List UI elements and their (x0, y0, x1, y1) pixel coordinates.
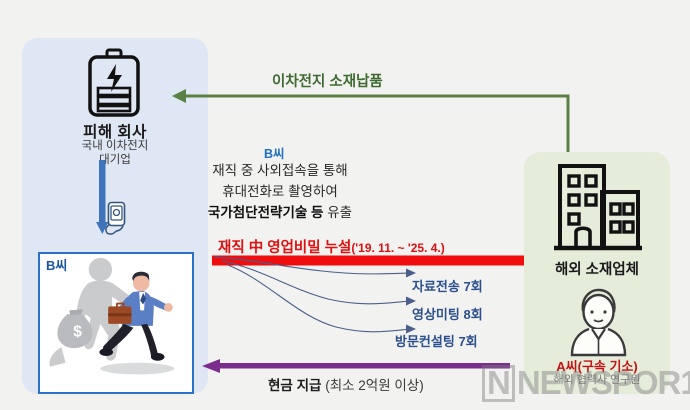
watermark-badge: N (482, 365, 515, 402)
purple-arrow-label: 현금 지급 (최소 2억원 이상) (268, 374, 424, 394)
green-left-arrow-icon (170, 84, 590, 164)
watermark-text: NEWSPOR1 (517, 364, 690, 402)
newsis-watermark: N NEWSPOR1 (482, 364, 690, 402)
branch-label-3-count: 7회 (458, 334, 477, 349)
branch-curves (212, 255, 542, 365)
branch-label-1-text: 자료전송 (412, 279, 460, 294)
center-line-2: 휴대전화로 촬영하여 (110, 181, 450, 202)
center-line-3-strong: 국가첨단전략기술 등 (208, 205, 324, 220)
center-line-3-rest: 유출 (327, 205, 352, 220)
branch-label-2-text: 영상미팅 (412, 307, 460, 322)
branch-label-2: 영상미팅 8회 (412, 304, 483, 323)
branch-label-3-text: 방문컨설팅 (395, 334, 455, 349)
green-arrow-label: 이차전지 소재납품 (272, 70, 383, 91)
purple-arrow-label-bold: 현금 지급 (268, 378, 321, 393)
battery-icon (82, 48, 146, 118)
photo-card-person-label: B씨 (46, 255, 67, 274)
center-line-3: 국가첨단전략기술 등 유출 (110, 202, 450, 223)
branch-label-2-count: 8회 (463, 307, 482, 322)
person-avatar-icon (567, 285, 629, 357)
overseas-company-title: 해외 소재업체 (524, 258, 670, 279)
svg-text:$: $ (73, 324, 82, 341)
branch-label-3: 방문컨설팅 7회 (395, 331, 478, 350)
branch-label-1: 자료전송 7회 (412, 276, 483, 295)
purple-left-arrow-icon (200, 358, 510, 374)
center-description: 재직 중 사외접속을 통해 휴대전화로 촬영하여 국가첨단전략기술 등 유출 (110, 160, 450, 223)
infographic-canvas: 피해 회사 국내 이차전지 대기업 (0, 0, 690, 410)
purple-arrow-label-rest: (최소 2억원 이상) (325, 378, 424, 393)
branch-label-1-count: 7회 (463, 279, 482, 294)
building-icon (552, 162, 644, 254)
